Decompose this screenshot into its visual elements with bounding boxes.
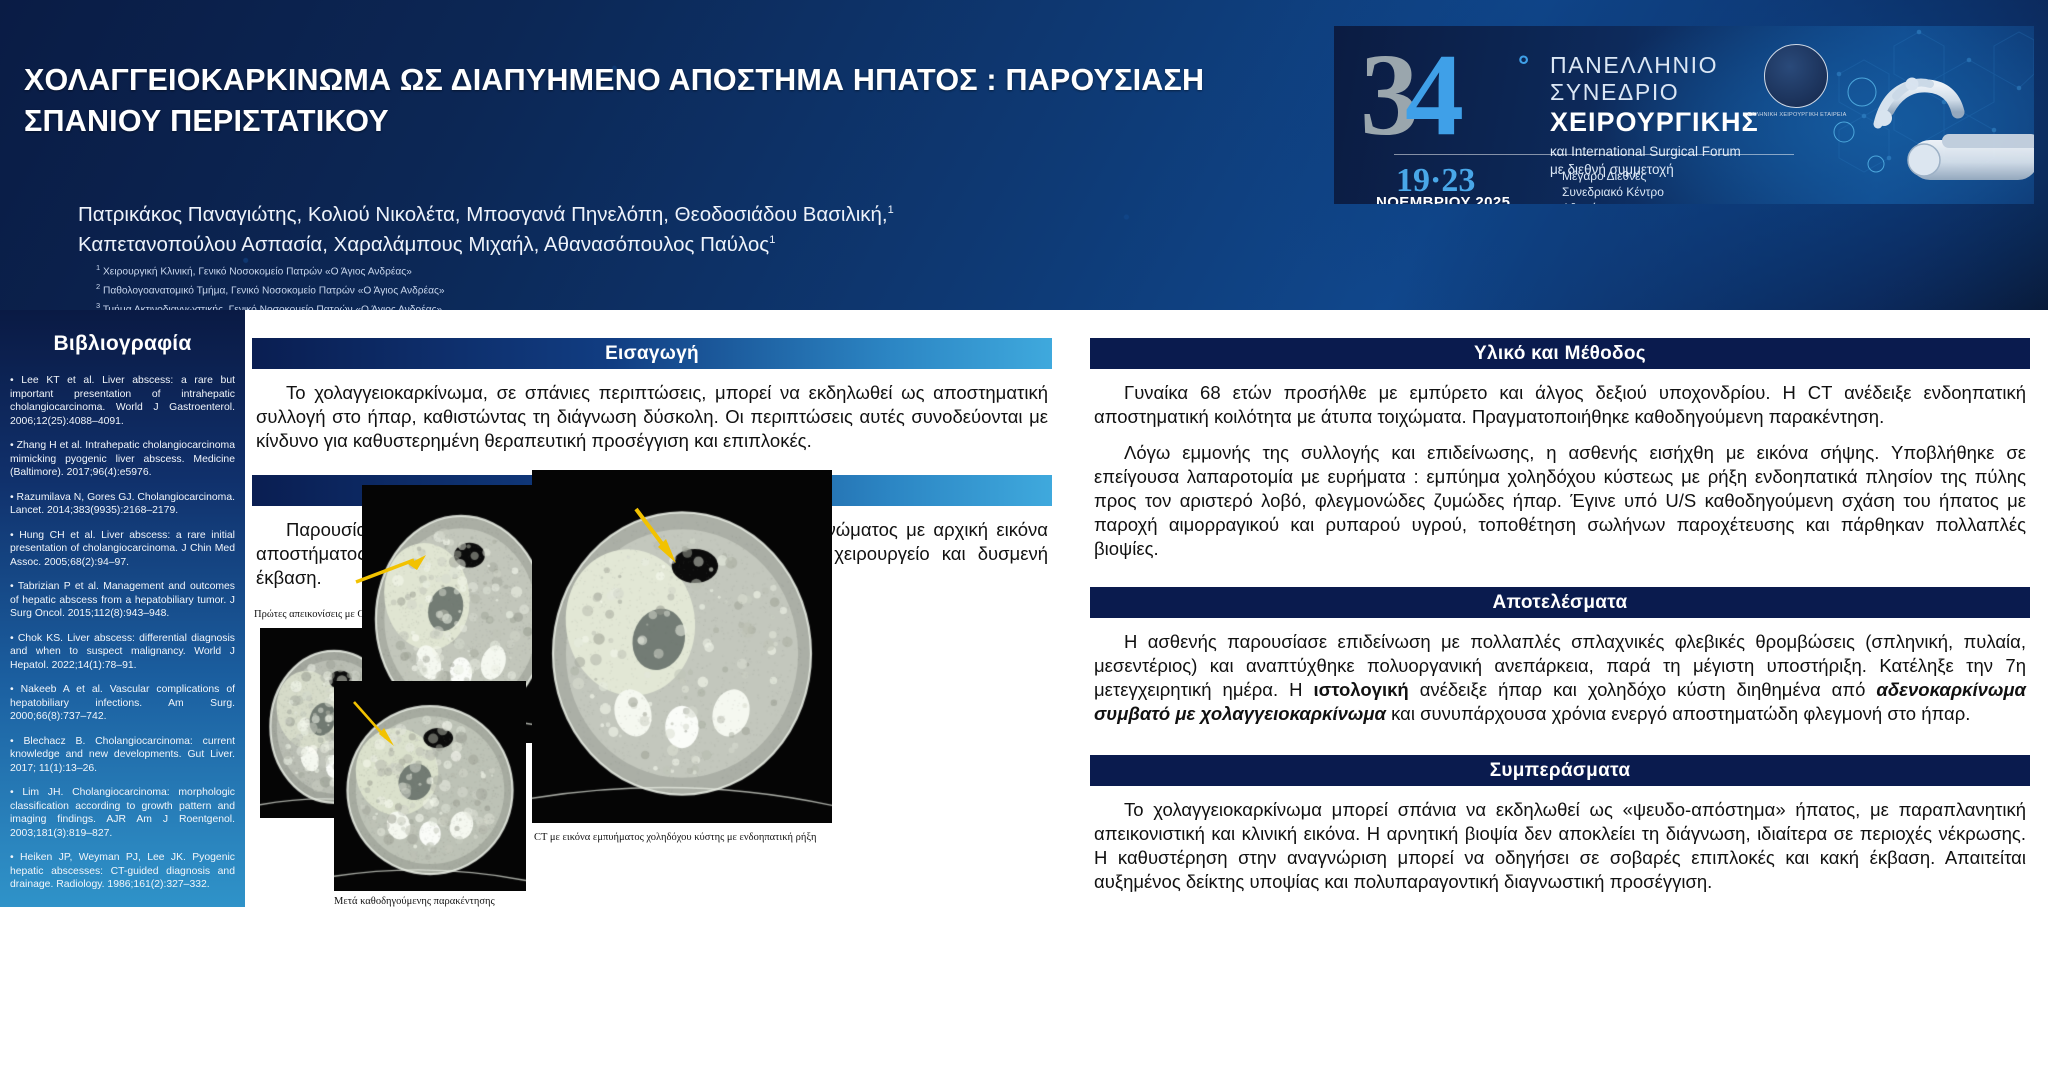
page-title: ΧΟΛΑΓΓΕΙΟΚΑΡΚΙΝΩΜΑ ΩΣ ΔΙΑΠΥΗΜΕΝΟ ΑΠΟΣΤΗΜ… <box>24 60 1314 142</box>
affiliation-1: 1 Χειρουργική Κλινική, Γενικό Νοσοκομείο… <box>96 262 1196 281</box>
poster-root: ΧΟΛΑΓΓΕΙΟΚΑΡΚΙΝΩΜΑ ΩΣ ΔΙΑΠΥΗΜΕΝΟ ΑΠΟΣΤΗΜ… <box>0 0 2048 1067</box>
reference-item: • Lee KT et al. Liver abscess: a rare bu… <box>10 374 235 428</box>
logo-digit-4: 4 <box>1405 29 1464 160</box>
affiliation-3: 3 Τμήμα Ακτινοδιαγνωστικής, Γενικό Νοσοκ… <box>96 300 1196 310</box>
conference-number: 34 <box>1360 36 1464 154</box>
section-header-results: Αποτελέσματα <box>1090 587 2030 618</box>
ct-scan-image-3 <box>334 681 526 891</box>
caption-empyema: CT με εικόνα εμπυήματος χοληδόχου κύστης… <box>534 832 817 843</box>
caption-first-ct: Πρώτες απεικονίσεις με CT <box>254 609 371 620</box>
reference-item: • Heiken JP, Weyman PJ, Lee JK. Pyogenic… <box>10 851 235 892</box>
affiliation-2: 2 Παθολογοανατομικό Τμήμα, Γενικό Νοσοκο… <box>96 281 1196 300</box>
reference-item: • Hung CH et al. Liver abscess: a rare i… <box>10 529 235 570</box>
logo-divider <box>1394 154 1794 155</box>
reference-item: • Nakeeb A et al. Vascular complications… <box>10 683 235 724</box>
right-content-column: Υλικό και Μέθοδος Γυναίκα 68 ετών προσήλ… <box>1090 338 2030 894</box>
results-bold-1: ιστολογική <box>1313 679 1408 700</box>
conference-month: ΝΟΕΜΒΡΙΟΥ 2025 <box>1376 194 1510 204</box>
ct-scan-image-4 <box>532 470 832 823</box>
reference-item: • Tabrizian P et al. Management and outc… <box>10 580 235 621</box>
results-text-2: ανέδειξε ήπαρ και χοληδόχο κύστη διηθημέ… <box>1409 679 1877 700</box>
conference-logo: 34 ° ΠΑΝΕΛΛΗΝΙΟ ΣΥΝΕΔΡΙΟ ΧΕΙΡΟΥΡΓΙΚΗΣ κα… <box>1334 26 2034 204</box>
poster-header: ΧΟΛΑΓΓΕΙΟΚΑΡΚΙΝΩΜΑ ΩΣ ΔΙΑΠΥΗΜΕΝΟ ΑΠΟΣΤΗΜ… <box>0 0 2048 310</box>
reference-item: • Lim JH. Cholangiocarcinoma: morphologi… <box>10 786 235 840</box>
section-header-methods: Υλικό και Μέθοδος <box>1090 338 2030 369</box>
conclusions-paragraph: Το χολαγγειοκαρκίνωμα μπορεί σπάνια να ε… <box>1094 798 2026 894</box>
caption-after-drainage: Μετά καθοδηγούμενης παρακέντησης <box>334 896 495 907</box>
reference-item: • Chok KS. Liver abscess: differential d… <box>10 632 235 673</box>
intro-paragraph: Το χολαγγειοκαρκίνωμα, σε σπάνιες περιπτ… <box>256 381 1048 453</box>
reference-item: • Zhang H et al. Intrahepatic cholangioc… <box>10 439 235 480</box>
author-line-2: Καπετανοπούλου Ασπασία, Χαραλάμπους Μιχα… <box>78 230 1278 260</box>
results-text-3: και συνυπάρχουσα χρόνια ενεργό αποστηματ… <box>1386 703 1970 724</box>
reference-item: • Razumilava N, Gores GJ. Cholangiocarci… <box>10 491 235 518</box>
ct-image-collage: Πρώτες απεικονίσεις με CT Μετά καθοδηγού… <box>252 600 1062 1060</box>
author-line-1: Πατρικάκος Παναγιώτης, Κολιού Νικολέτα, … <box>78 200 1278 230</box>
section-header-conclusions: Συμπεράσματα <box>1090 755 2030 786</box>
affiliation-list: 1 Χειρουργική Κλινική, Γενικό Νοσοκομείο… <box>96 262 1196 310</box>
author-list: Πατρικάκος Παναγιώτης, Κολιού Νικολέτα, … <box>78 200 1278 261</box>
bibliography-sidebar: Βιβλιογραφία • Lee KT et al. Liver absce… <box>0 310 245 907</box>
venue-line-3: Αθηνών <box>1562 200 1664 204</box>
methods-paragraph-1: Γυναίκα 68 ετών προσήλθε με εμπύρετο και… <box>1094 381 2026 429</box>
methods-paragraph-2: Λόγω εμμονής της συλλογής και επιδείνωση… <box>1094 441 2026 561</box>
venue-line-2: Συνεδριακό Κέντρο <box>1562 184 1664 200</box>
ordinal-degree-symbol: ° <box>1518 50 1529 82</box>
conference-venue: Μέγαρο Διεθνές Συνεδριακό Κέντρο Αθηνών <box>1562 168 1664 204</box>
section-header-intro: Εισαγωγή <box>252 338 1052 369</box>
bibliography-title: Βιβλιογραφία <box>10 332 235 356</box>
venue-line-1: Μέγαρο Διεθνές <box>1562 168 1664 184</box>
results-paragraph: Η ασθενής παρουσίασε επιδείνωση με πολλα… <box>1094 630 2026 726</box>
robotic-arm-illustration <box>1792 44 2034 204</box>
reference-item: • Blechacz B. Cholangiocarcinoma: curren… <box>10 735 235 776</box>
